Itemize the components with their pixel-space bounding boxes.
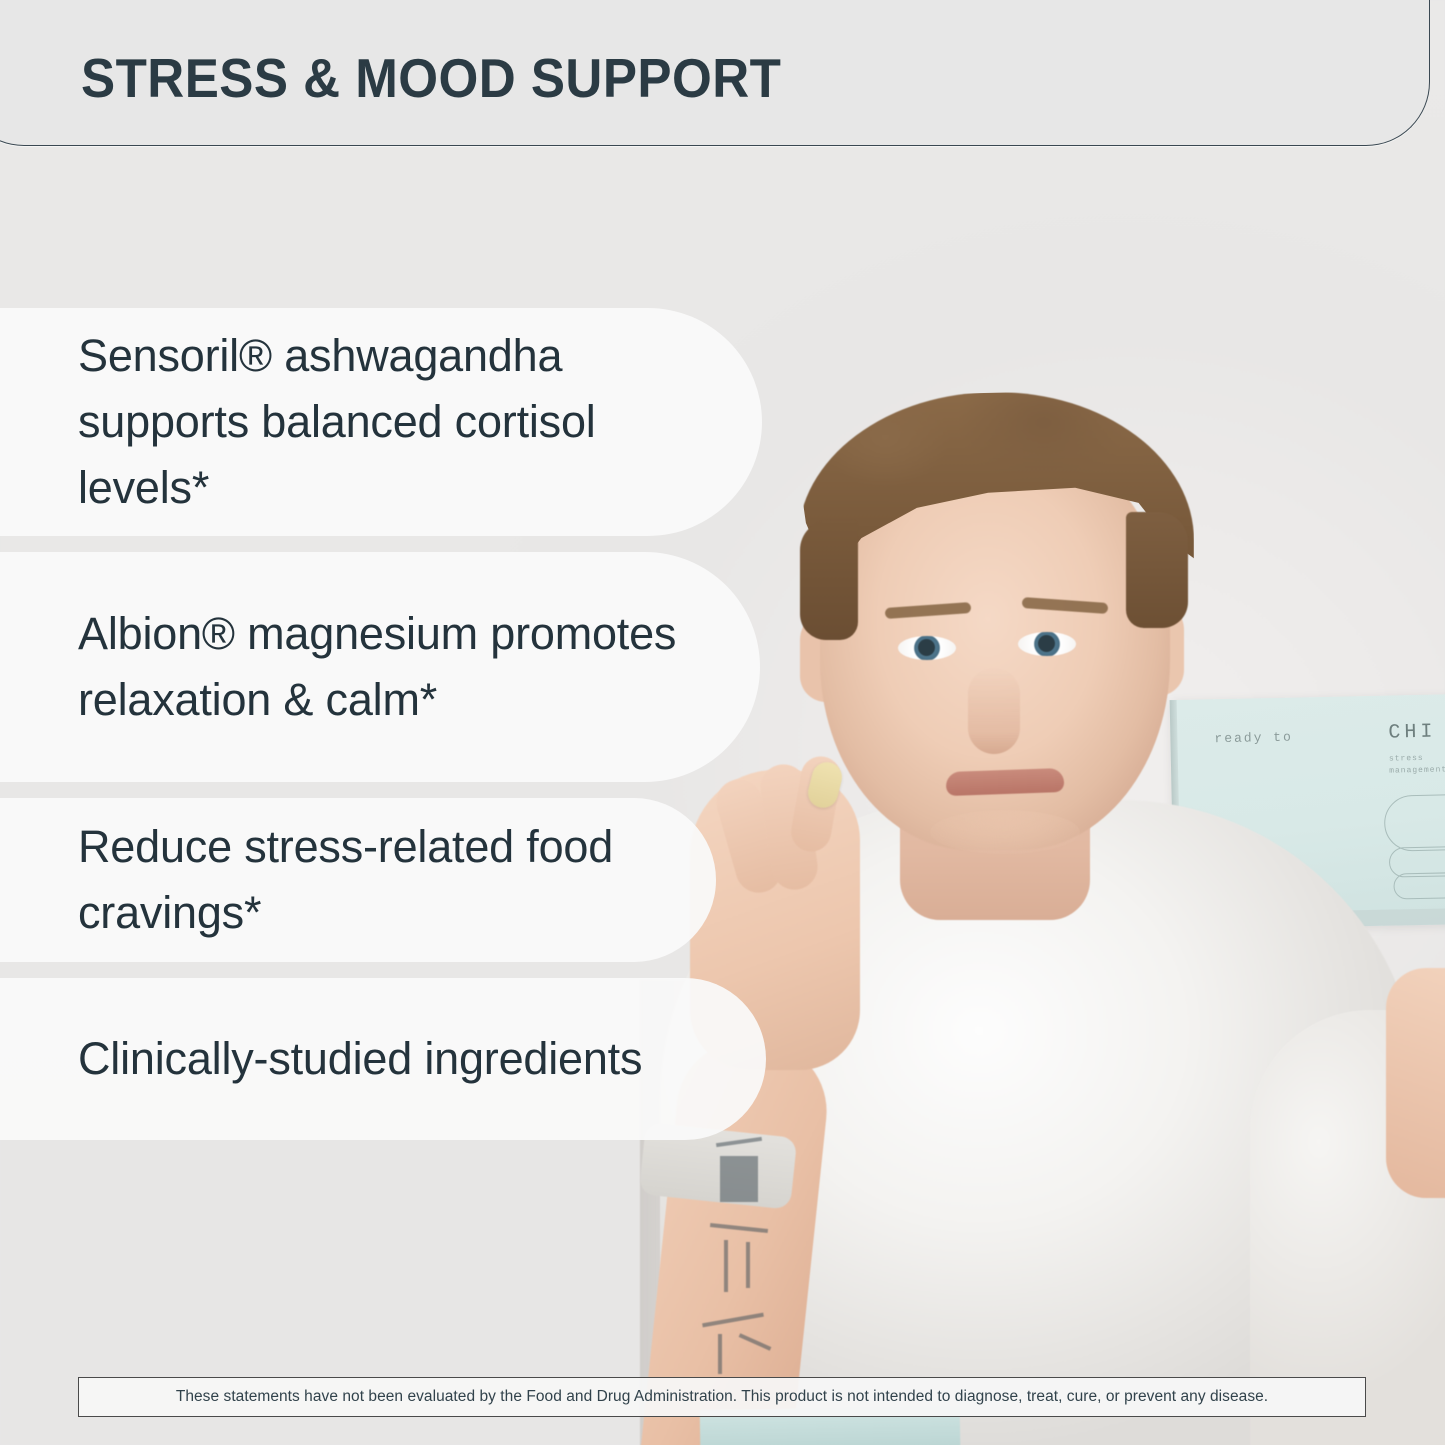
model-hair-left-side bbox=[800, 520, 858, 640]
benefit-pill: Reduce stress-related food cravings* bbox=[0, 798, 716, 962]
product-box-subtext: stress management bbox=[1389, 752, 1445, 778]
benefit-text: Clinically-studied ingredients bbox=[0, 1026, 682, 1092]
product-benefit-graphic: ready to CHI stress management bbox=[0, 0, 1445, 1445]
model-chin bbox=[930, 810, 1080, 854]
benefit-text: Sensoril® ashwagandha supports balanced … bbox=[0, 323, 762, 520]
header-band: STRESS & MOOD SUPPORT bbox=[0, 0, 1430, 146]
product-box-tagline: ready to bbox=[1214, 730, 1293, 747]
model-nose bbox=[968, 668, 1020, 754]
capsule-illustration-icon bbox=[1384, 793, 1445, 907]
benefit-pill: Albion® magnesium promotes relaxation & … bbox=[0, 552, 760, 782]
benefit-pill: Clinically-studied ingredients bbox=[0, 978, 766, 1140]
model-right-pupil bbox=[1038, 635, 1055, 652]
benefit-text: Reduce stress-related food cravings* bbox=[0, 814, 716, 945]
model-hair-right-side bbox=[1126, 512, 1188, 628]
fda-disclaimer-text: These statements have not been evaluated… bbox=[176, 1388, 1268, 1406]
model-left-pupil bbox=[918, 639, 935, 656]
fda-disclaimer: These statements have not been evaluated… bbox=[78, 1377, 1366, 1417]
benefit-pill: Sensoril® ashwagandha supports balanced … bbox=[0, 308, 762, 536]
product-box-brand: CHI bbox=[1388, 721, 1436, 745]
model-mouth bbox=[946, 768, 1065, 796]
benefit-text: Albion® magnesium promotes relaxation & … bbox=[0, 601, 760, 732]
model-right-hand bbox=[1386, 968, 1445, 1198]
page-title: STRESS & MOOD SUPPORT bbox=[81, 46, 781, 110]
